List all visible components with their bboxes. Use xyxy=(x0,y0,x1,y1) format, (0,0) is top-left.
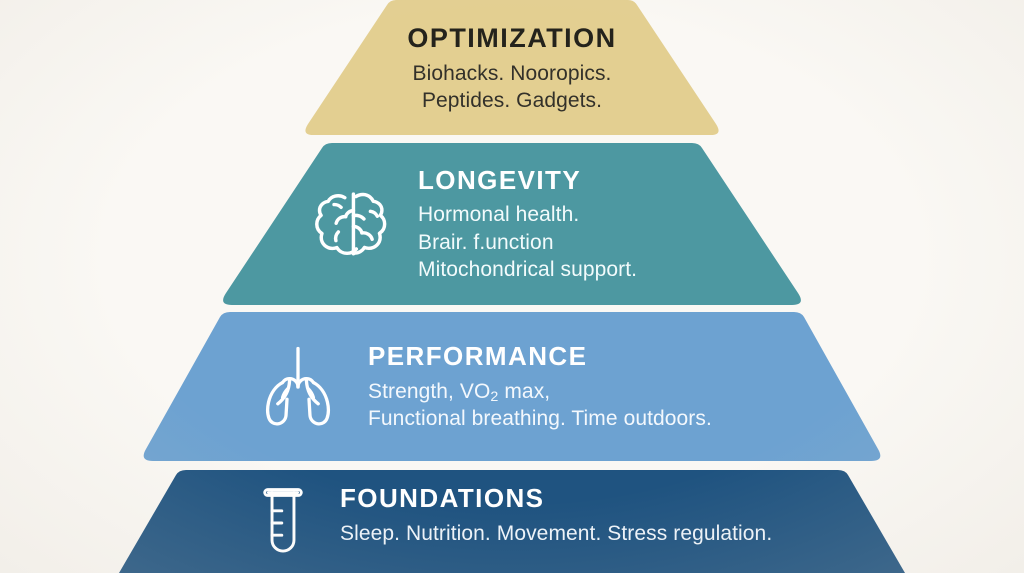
tier-performance-content: PERFORMANCE Strength, VO2 max, Functiona… xyxy=(138,312,886,462)
tier-optimization-content: OPTIMIZATION Biohacks. Nooropics. Peptid… xyxy=(300,0,724,137)
pyramid-tier-longevity: LONGEVITY Hormonal health. Brair. f.unct… xyxy=(218,143,806,306)
tier-longevity-title: LONGEVITY xyxy=(418,166,637,195)
tier-optimization-text: OPTIMIZATION Biohacks. Nooropics. Peptid… xyxy=(407,22,616,114)
tier-performance-description-line-1: Strength, VO2 max, xyxy=(368,378,712,405)
tier-performance-text: PERFORMANCE Strength, VO2 max, Functiona… xyxy=(368,342,712,432)
tier-longevity-description-line-1: Hormonal health. xyxy=(418,201,637,228)
tier-performance-description-line-2: Functional breathing. Time outdoors. xyxy=(368,405,712,432)
tier-optimization-title: OPTIMIZATION xyxy=(407,24,616,54)
pyramid-diagram: OPTIMIZATION Biohacks. Nooropics. Peptid… xyxy=(0,0,1024,573)
tier-performance-title: PERFORMANCE xyxy=(368,342,712,371)
pyramid-tier-optimization: OPTIMIZATION Biohacks. Nooropics. Peptid… xyxy=(300,0,724,137)
tier-optimization-description-line-2: Peptides. Gadgets. xyxy=(422,87,602,114)
tier-longevity-text: LONGEVITY Hormonal health. Brair. f.unct… xyxy=(418,166,637,283)
tier-optimization-description-line-1: Biohacks. Nooropics. xyxy=(413,60,612,87)
test-tube-icon xyxy=(240,484,326,562)
brain-icon xyxy=(300,179,404,271)
tier-foundations-title: FOUNDATIONS xyxy=(340,484,772,513)
tier-longevity-description-line-3: Mitochondrical support. xyxy=(418,256,637,283)
tier-foundations-content: FOUNDATIONS Sleep. Nutrition. Movement. … xyxy=(58,470,966,573)
tier-foundations-description-line-1: Sleep. Nutrition. Movement. Stress regul… xyxy=(340,520,772,547)
tier-foundations-text: FOUNDATIONS Sleep. Nutrition. Movement. … xyxy=(340,484,772,547)
tier-longevity-content: LONGEVITY Hormonal health. Brair. f.unct… xyxy=(218,143,806,306)
lungs-icon xyxy=(246,343,350,431)
pyramid-tier-foundations: FOUNDATIONS Sleep. Nutrition. Movement. … xyxy=(58,470,966,573)
pyramid-tier-performance: PERFORMANCE Strength, VO2 max, Functiona… xyxy=(138,312,886,462)
tier-longevity-description-line-2: Brair. f.unction xyxy=(418,229,637,256)
